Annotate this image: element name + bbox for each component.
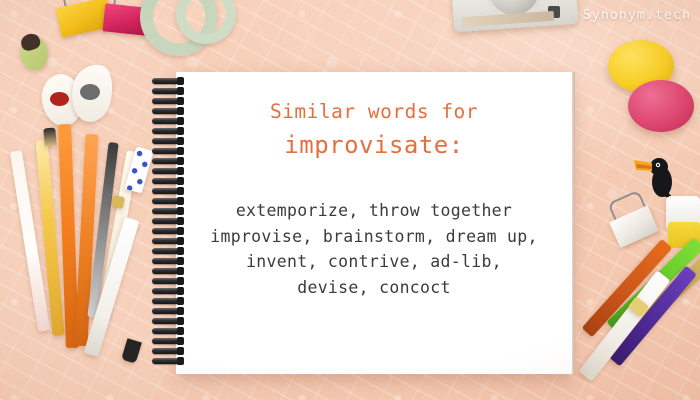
pencil-tip-icon xyxy=(43,128,57,147)
spiral-coil xyxy=(152,108,182,114)
synonym-line: improvise, brainstorm, dream up, xyxy=(210,224,537,250)
brand-wordmark: Synonym.tech xyxy=(583,7,691,23)
spiral-coil xyxy=(152,78,182,84)
spiral-coil xyxy=(152,318,182,324)
spiral-coil xyxy=(152,248,182,254)
spiral-coil xyxy=(152,138,182,144)
spiral-coil xyxy=(152,128,182,134)
spiral-coil xyxy=(152,298,182,304)
spiral-notebook: Similar words for improvisate: extempori… xyxy=(152,72,572,374)
screenshot-root: Similar words for improvisate: extempori… xyxy=(0,0,700,400)
spiral-coil xyxy=(152,358,182,364)
synonym-line: invent, contrive, ad-lib, xyxy=(210,249,537,275)
spiral-coil xyxy=(152,98,182,104)
red-dot-icon xyxy=(50,92,69,106)
spiral-coil xyxy=(152,328,182,334)
page-edge xyxy=(572,72,575,374)
spiral-coil xyxy=(152,228,182,234)
spiral-coil xyxy=(152,268,182,274)
spiral-coil xyxy=(152,348,182,354)
synonym-line: devise, concoct xyxy=(210,275,537,301)
synonym-list: extemporize, throw together improvise, b… xyxy=(210,198,537,300)
spiral-coil xyxy=(152,258,182,264)
spiral-coil xyxy=(152,238,182,244)
spiral-coil xyxy=(152,148,182,154)
spiral-coil xyxy=(152,288,182,294)
spiral-coil xyxy=(152,218,182,224)
spiral-coil xyxy=(152,188,182,194)
grey-dot-icon xyxy=(80,84,100,100)
spiral-coil xyxy=(152,338,182,344)
page-content: Similar words for improvisate: extempori… xyxy=(176,72,572,374)
spiral-coil xyxy=(152,198,182,204)
headword: improvisate: xyxy=(284,130,463,160)
pen-gold-band xyxy=(111,195,125,209)
synonym-line: extemporize, throw together xyxy=(210,198,537,224)
toucan-sticker xyxy=(632,150,684,200)
toucan-icon xyxy=(632,150,684,200)
spiral-coil xyxy=(152,208,182,214)
spiral-coil xyxy=(152,158,182,164)
spiral-coil xyxy=(152,278,182,284)
spiral-coil xyxy=(152,118,182,124)
spiral-binding xyxy=(152,78,186,370)
notebook-page: Similar words for improvisate: extempori… xyxy=(176,72,572,374)
heading-prefix: Similar words for xyxy=(270,99,478,125)
spiral-coil xyxy=(152,178,182,184)
pink-macaron xyxy=(628,80,694,132)
spiral-coil xyxy=(152,88,182,94)
spiral-coil xyxy=(152,308,182,314)
spiral-coil xyxy=(152,168,182,174)
